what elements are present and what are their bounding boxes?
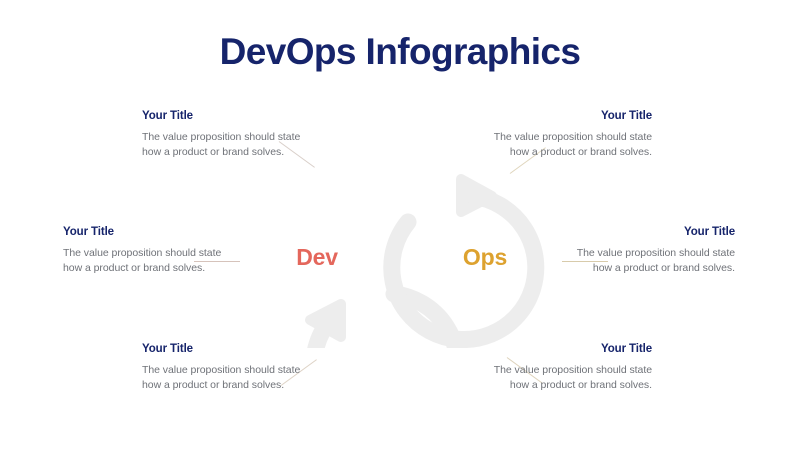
item-bottom-left[interactable]: Your Title The value proposition should … [142, 343, 317, 393]
dev-label: Dev [242, 244, 392, 271]
item-title: Your Title [142, 343, 317, 355]
item-body: The value proposition should state how a… [142, 130, 317, 160]
item-middle-right[interactable]: Your Title The value proposition should … [560, 226, 735, 276]
ops-label: Ops [410, 244, 560, 271]
item-middle-left[interactable]: Your Title The value proposition should … [63, 226, 238, 276]
item-bottom-right[interactable]: Your Title The value proposition should … [477, 343, 652, 393]
item-title: Your Title [477, 110, 652, 122]
item-top-left[interactable]: Your Title The value proposition should … [142, 110, 317, 160]
item-title: Your Title [560, 226, 735, 238]
devops-loop-diagram: Dev Ops [242, 168, 560, 348]
item-body: The value proposition should state how a… [560, 246, 735, 276]
page-title: DevOps Infographics [0, 32, 800, 73]
item-title: Your Title [477, 343, 652, 355]
slide-canvas: DevOps Infographics Dev Ops Your Title T… [0, 0, 800, 450]
item-title: Your Title [63, 226, 238, 238]
item-body: The value proposition should state how a… [142, 363, 317, 393]
item-body: The value proposition should state how a… [63, 246, 238, 276]
item-body: The value proposition should state how a… [477, 130, 652, 160]
item-title: Your Title [142, 110, 317, 122]
item-body: The value proposition should state how a… [477, 363, 652, 393]
item-top-right[interactable]: Your Title The value proposition should … [477, 110, 652, 160]
